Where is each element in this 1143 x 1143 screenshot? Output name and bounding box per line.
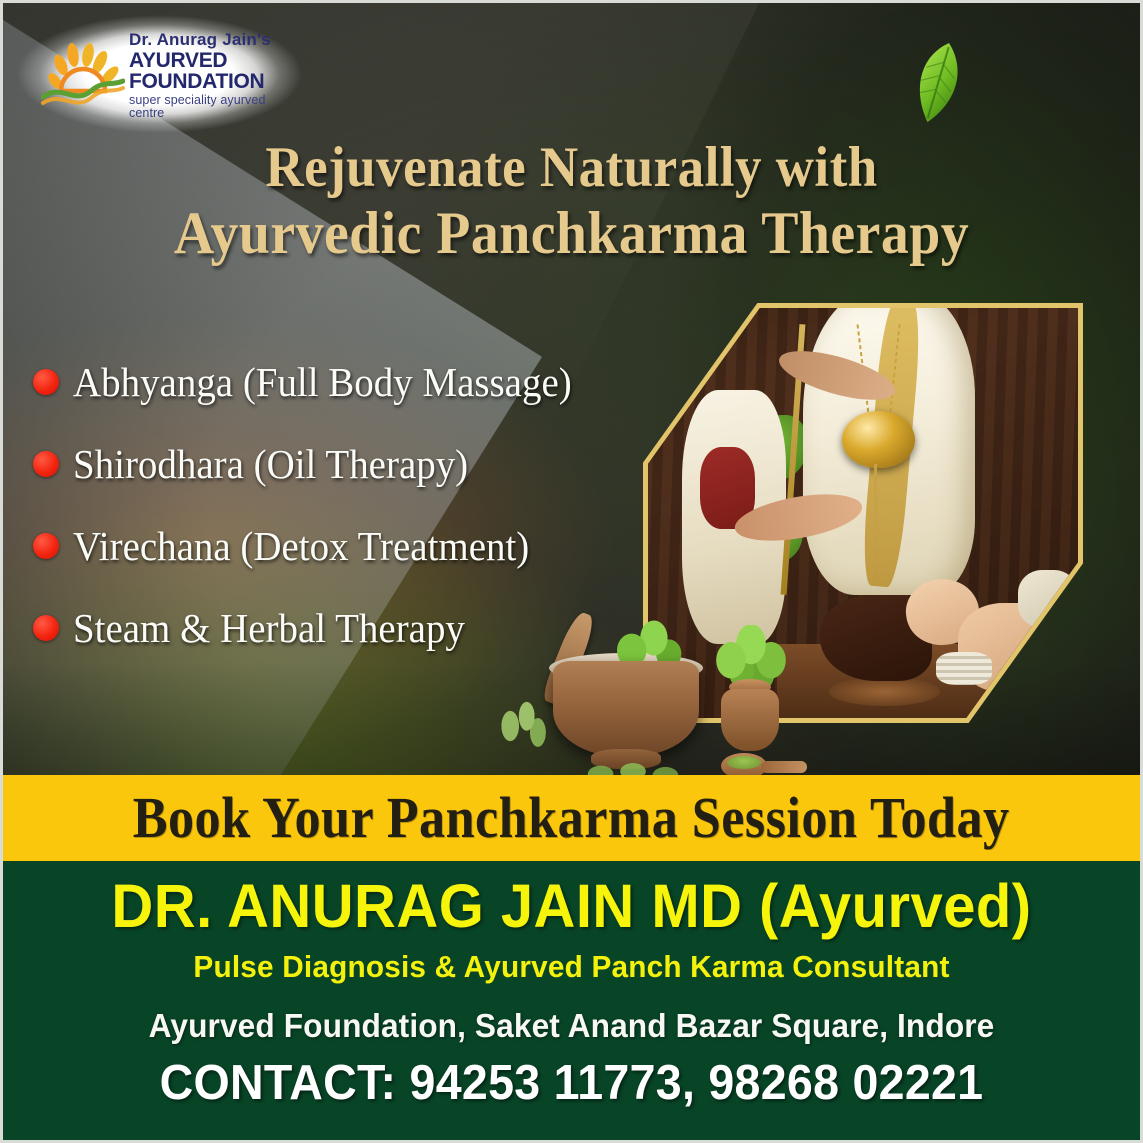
bullet-dot-icon [33,533,59,559]
bullet-dot-icon [33,451,59,477]
ayurveda-panchkarma-poster: Dr. Anurag Jain's AYURVED FOUNDATION sup… [0,0,1143,1143]
green-powder [727,756,761,769]
logo-line-1: Dr. Anurag Jain's [129,31,291,48]
list-item: Abhyanga (Full Body Massage) [33,341,633,423]
bullet-dot-icon [33,369,59,395]
photo-oil-stream [874,464,877,579]
list-item: Shirodhara (Oil Therapy) [33,423,633,505]
doctor-specialty: Pulse Diagnosis & Ayurved Panch Karma Co… [26,949,1118,985]
headline-line-1: Rejuvenate Naturally with [43,136,1100,200]
service-label: Shirodhara (Oil Therapy) [73,444,468,485]
service-label: Abhyanga (Full Body Massage) [73,362,572,403]
herb-sprig [497,699,563,753]
brand-logo: Dr. Anurag Jain's AYURVED FOUNDATION sup… [41,29,291,121]
photo-brass-oil-pot [842,411,915,468]
sunrise-wave-logo-icon [41,37,125,113]
list-item: Virechana (Detox Treatment) [33,505,633,587]
logo-line-3: super speciality ayurved centre [129,94,291,119]
headline-line-2: Ayurvedic Panchkarma Therapy [43,200,1100,267]
clay-pot [721,689,779,751]
contact-footer: DR. ANURAG JAIN MD (Ayurved) Pulse Diagn… [3,861,1140,1140]
service-label: Virechana (Detox Treatment) [73,526,529,567]
cta-text: Book Your Panchkarma Session Today [133,789,1010,847]
herbal-props-foreground [525,603,855,783]
spoon-handle [761,761,807,773]
service-label: Steam & Herbal Therapy [73,608,465,649]
contact-numbers[interactable]: CONTACT: 94253 11773, 98268 02221 [31,1055,1111,1111]
doctor-name: DR. ANURAG JAIN MD (Ayurved) [31,875,1111,937]
clinic-address: Ayurved Foundation, Saket Anand Bazar Sq… [26,1007,1118,1045]
logo-line-2: AYURVED FOUNDATION [129,50,291,92]
poster-headline: Rejuvenate Naturally with Ayurvedic Panc… [43,136,1100,267]
cta-banner[interactable]: Book Your Panchkarma Session Today [3,775,1140,861]
mortar-bowl [553,661,699,757]
photo-rolled-towel [936,652,992,685]
bullet-dot-icon [33,615,59,641]
